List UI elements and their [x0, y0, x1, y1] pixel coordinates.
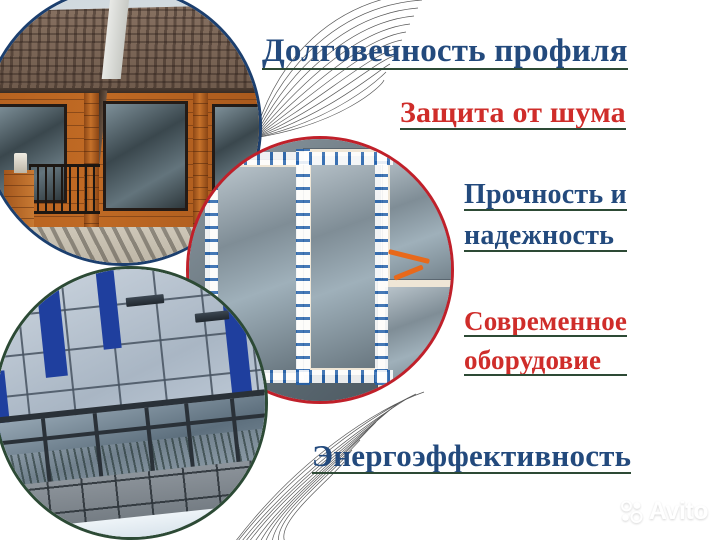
- claim-strength-line-2: надежность: [464, 221, 627, 250]
- claim-equipment: Современное оборудовие: [464, 307, 627, 385]
- house-balcony-railing: [29, 164, 100, 213]
- house-lamp: [14, 153, 28, 172]
- claim-durability-line-1: Долговечность профиля: [262, 34, 628, 68]
- veka-protective-film: [205, 152, 394, 165]
- advertisement-canvas: Долговечность профиля Защита от шума Про…: [0, 0, 720, 540]
- claim-durability: Долговечность профиля: [262, 34, 628, 68]
- claim-noise-line-1: Защита от шума: [400, 97, 626, 128]
- claim-equipment-line-1: Современное: [464, 307, 627, 335]
- claim-strength: Прочность и надежность: [464, 180, 627, 262]
- claim-equipment-line-2: оборудовие: [464, 346, 627, 374]
- avito-watermark: Avito: [620, 497, 708, 526]
- veka-protective-film: [375, 144, 388, 385]
- house-window: [103, 101, 188, 211]
- claim-energy: Энергоэффективность: [312, 440, 631, 472]
- claim-noise: Защита от шума: [400, 97, 626, 128]
- house-roof: [0, 5, 262, 98]
- avito-watermark-label: Avito: [649, 497, 708, 526]
- claim-energy-line-1: Энергоэффективность: [312, 440, 631, 472]
- avito-dots-icon: [620, 500, 644, 524]
- photo-facade: [0, 266, 268, 540]
- claim-strength-line-1: Прочность и: [464, 180, 627, 209]
- veka-protective-film: [296, 149, 309, 385]
- line-art-fan-top-icon: [246, 0, 456, 140]
